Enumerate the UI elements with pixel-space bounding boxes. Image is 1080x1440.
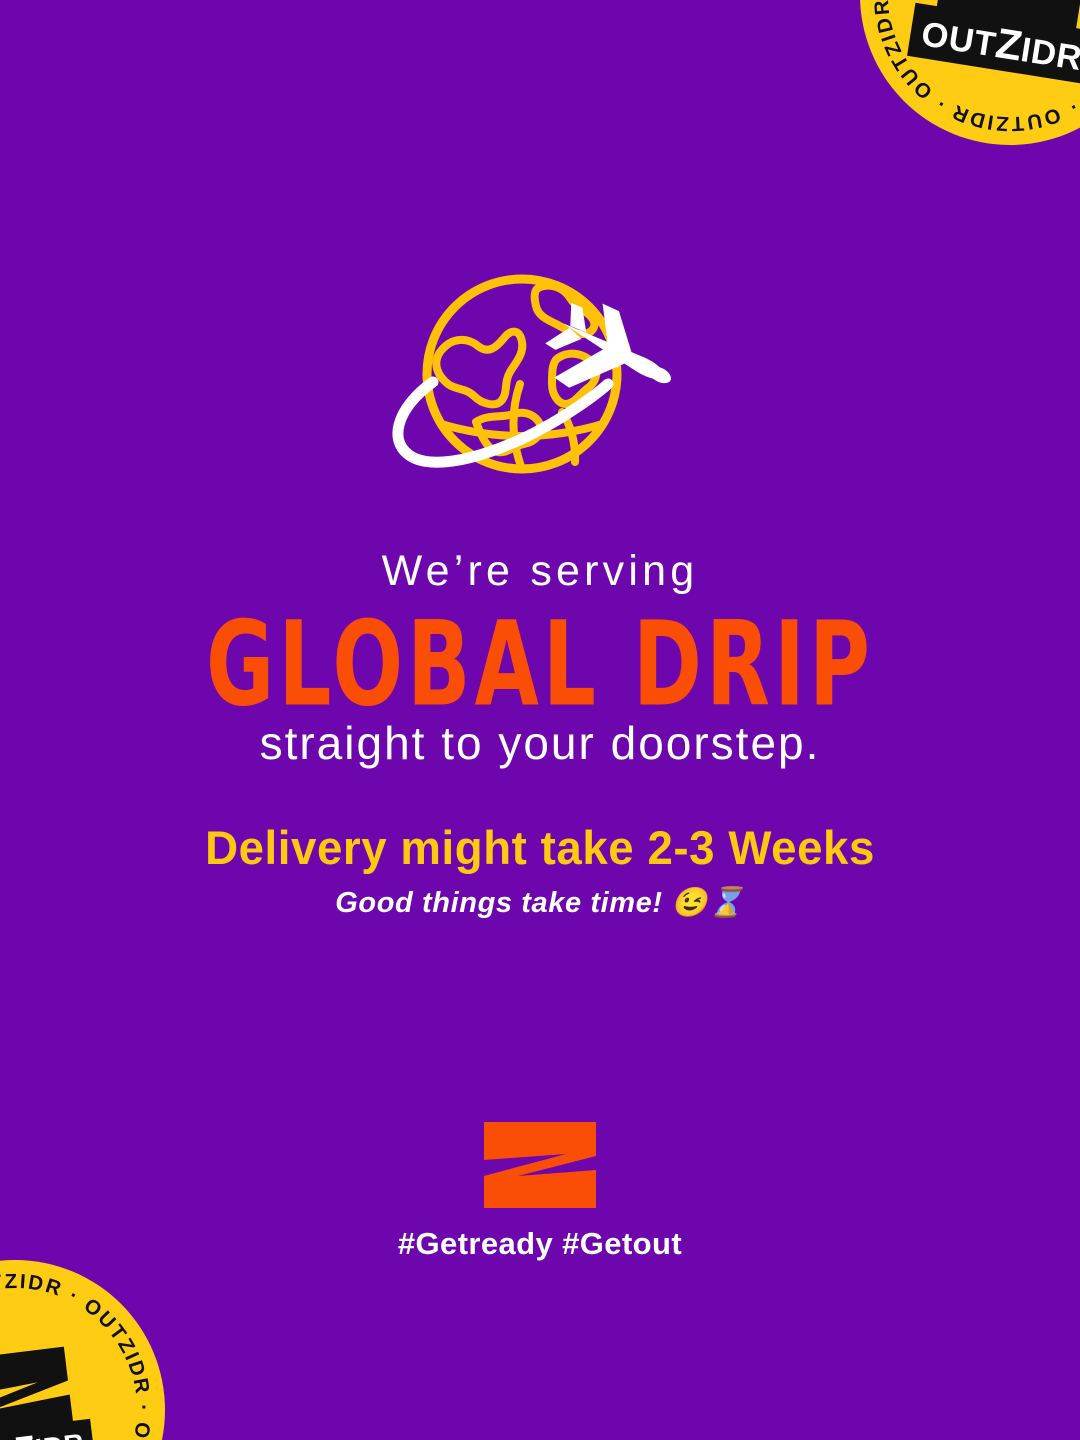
delivery-notice-block: Delivery might take 2-3 Weeks Good thing… [0,822,1080,920]
hashtags-text: #Getready #Getout [398,1226,682,1262]
seal-core-logo-bl: OUTZIDR [0,1339,112,1440]
wordmark-suffix: IDR [34,1430,86,1440]
reassurance-text: Good things take time! 😉⌛ [0,888,1080,920]
outzidr-seal-bottom-left: OUTZIDR · OUTZIDR · OUTZIDR · OUTZIDR · … [0,1260,165,1440]
outzidr-z-logo [478,1120,602,1210]
footer-brand-block: #Getready #Getout [0,1120,1080,1262]
wordmark-suffix: IDR [1018,33,1080,77]
headline-block: We’re serving GLOBAL DRIP straight to yo… [0,548,1080,769]
delivery-time-text: Delivery might take 2-3 Weeks [16,822,1064,874]
hero-illustration [0,272,1080,492]
page-title: GLOBAL DRIP [108,606,972,722]
globe-airplane-icon [370,272,710,492]
wordmark-prefix: OUT [919,17,998,63]
outzidr-seal-top-right: OUTZIDR · OUTZIDR · OUTZIDR · OUTZIDR · … [860,0,1080,145]
eyebrow-text: We’re serving [0,548,1080,594]
promo-poster: We’re serving GLOBAL DRIP straight to yo… [0,0,1080,1440]
